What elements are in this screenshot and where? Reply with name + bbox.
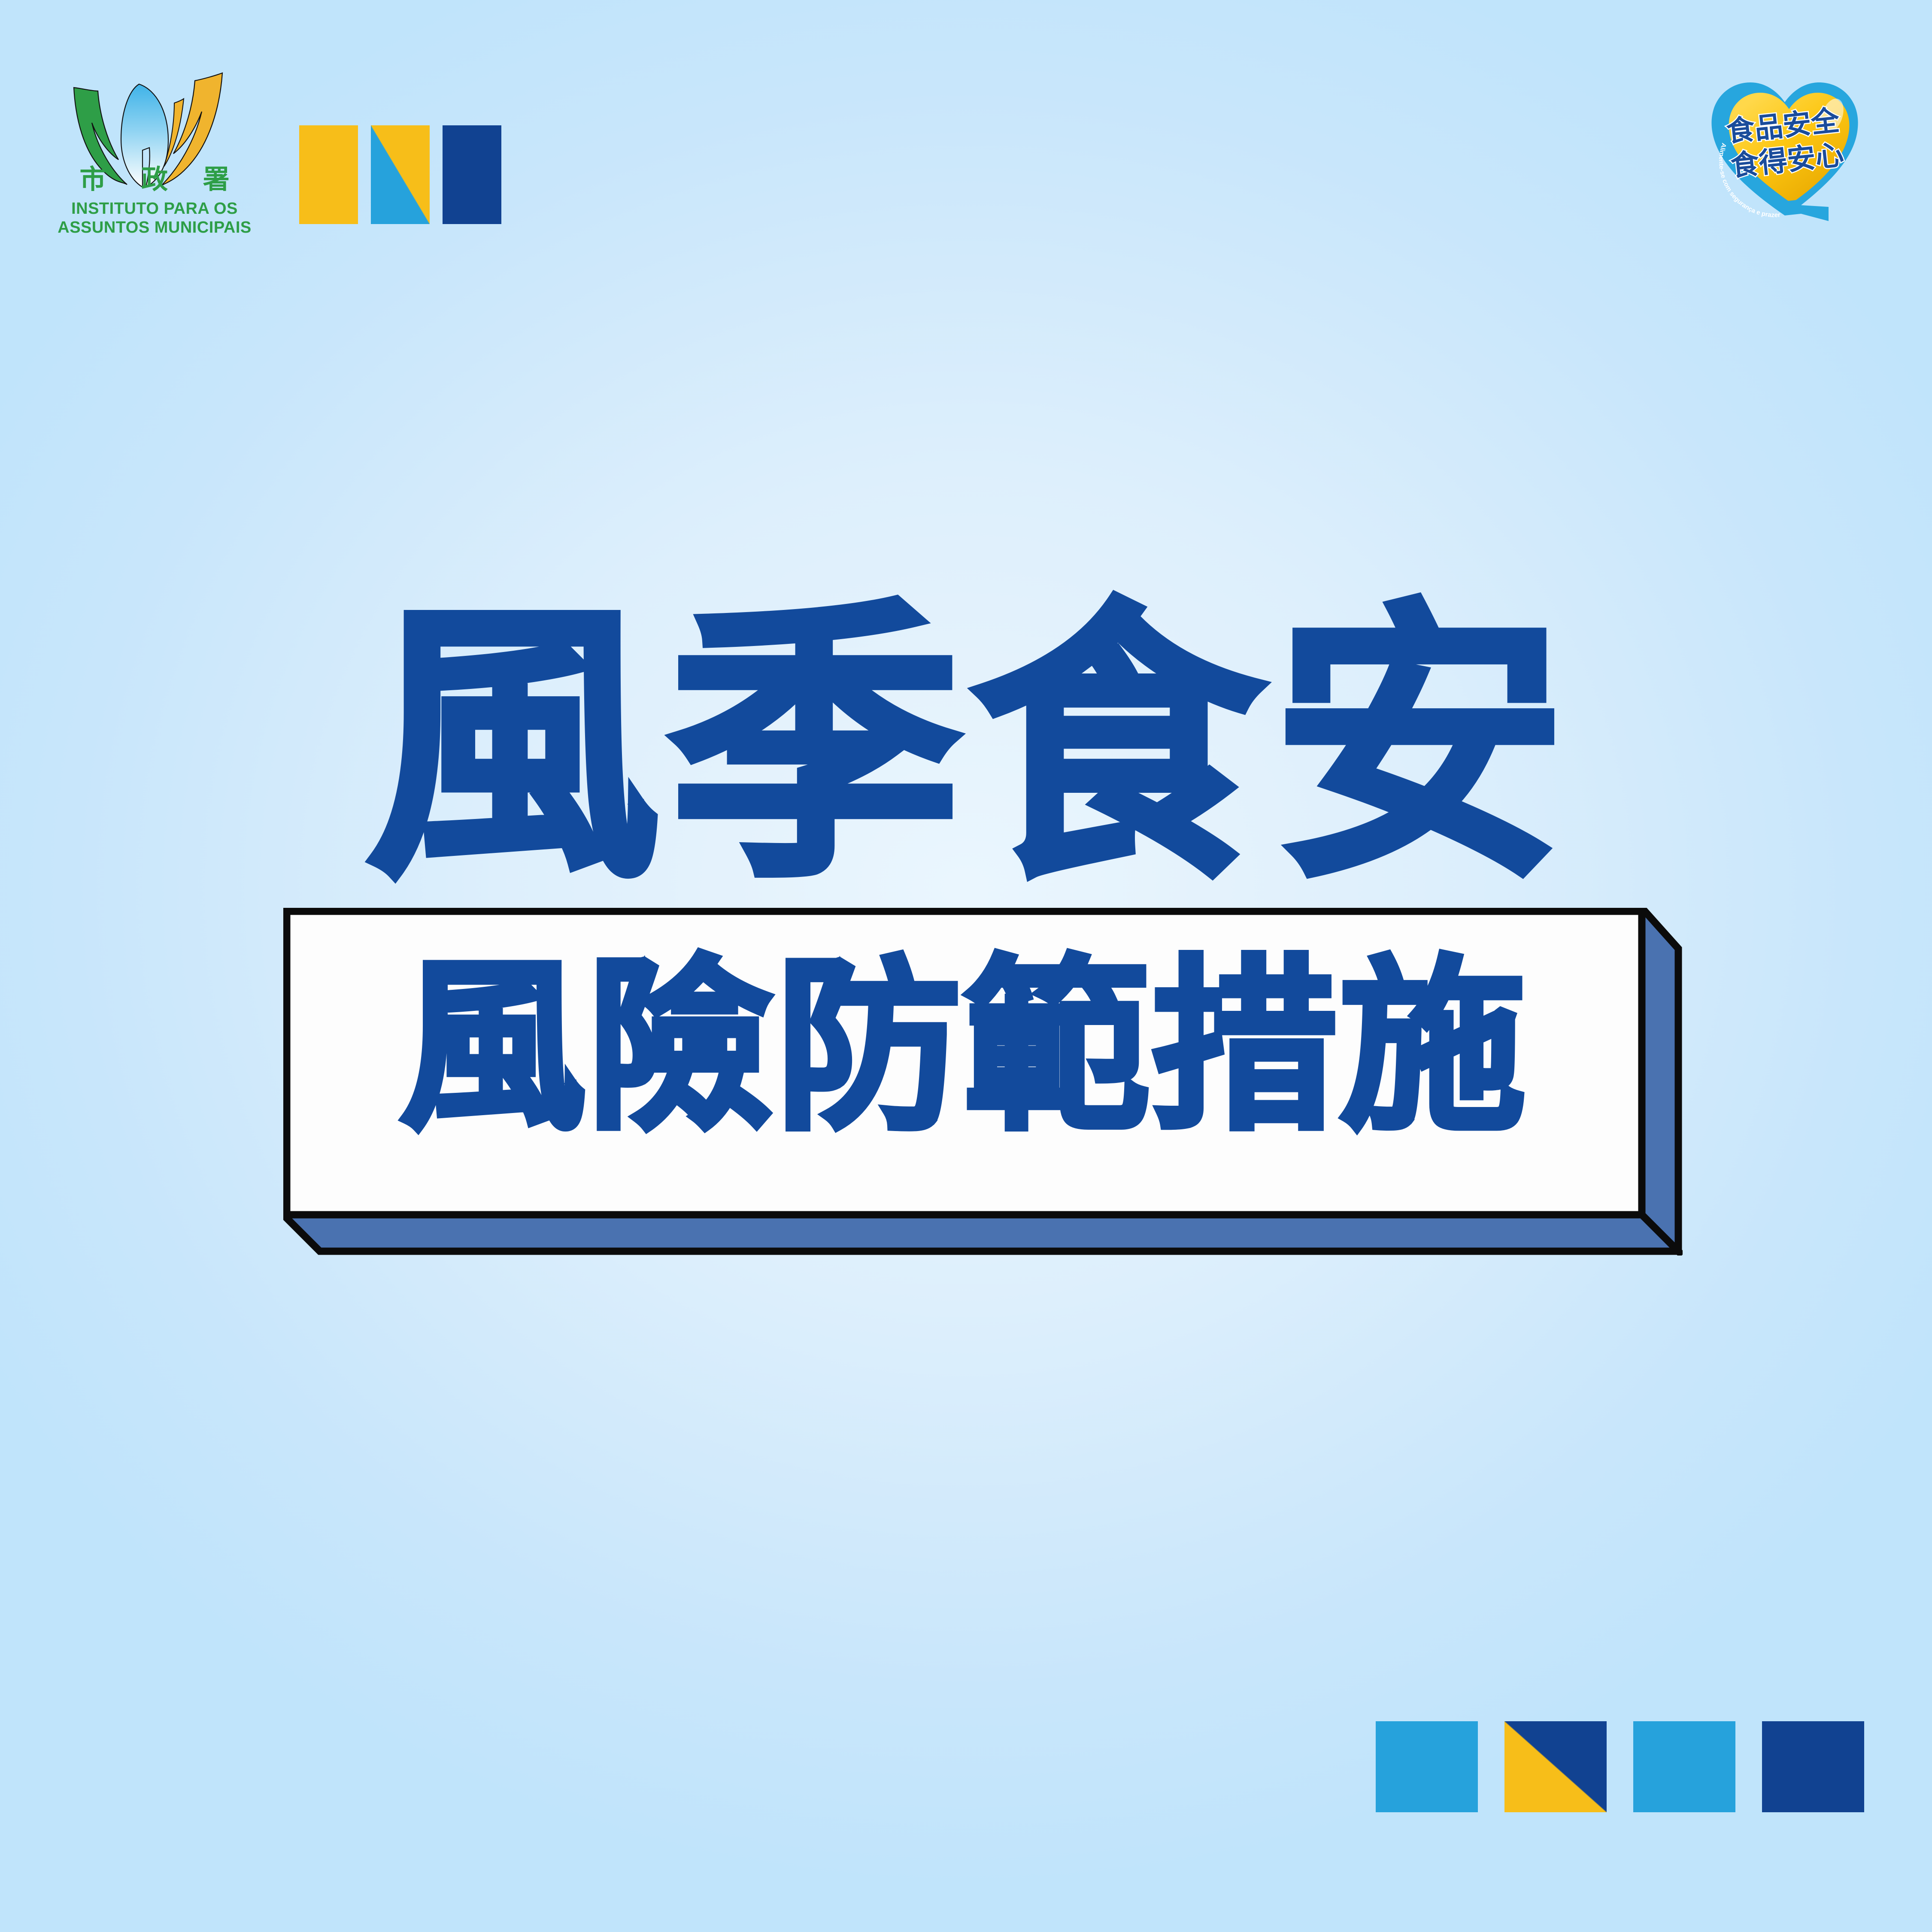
iam-logo: 市 政 署 INSTITUTO PARA OS ASSUNTOS MUNICIP… bbox=[47, 43, 262, 258]
top-decoration-squares bbox=[299, 125, 501, 224]
square-navy-bottom bbox=[1762, 1721, 1864, 1812]
plaque-side-face bbox=[1642, 908, 1678, 1251]
poster-canvas: 市 政 署 INSTITUTO PARA OS ASSUNTOS MUNICIP… bbox=[0, 0, 1932, 1932]
square-cyan-1 bbox=[1376, 1721, 1478, 1812]
food-safety-heart-logo: Alimente-se com segurança e prazer 食品安全 … bbox=[1700, 56, 1871, 221]
square-yellow-navy-split bbox=[1504, 1721, 1607, 1812]
page-title: 風季食安 bbox=[0, 601, 1932, 893]
logo-portuguese-line1: INSTITUTO PARA OS bbox=[47, 200, 262, 218]
subtitle-text: 風險防範措施 bbox=[283, 955, 1642, 1140]
logo-portuguese-line2: ASSUNTOS MUNICIPAIS bbox=[47, 219, 262, 237]
square-navy bbox=[443, 125, 501, 224]
logo-chinese-name: 市 政 署 bbox=[47, 166, 262, 193]
square-cyan-2 bbox=[1633, 1721, 1735, 1812]
bottom-decoration-squares bbox=[1376, 1721, 1864, 1812]
subtitle-plaque: 風險防範措施 bbox=[283, 908, 1683, 1256]
square-yellow bbox=[299, 125, 358, 224]
square-cyan-yellow-split bbox=[371, 125, 430, 224]
plaque-bottom-face bbox=[283, 1215, 1678, 1251]
